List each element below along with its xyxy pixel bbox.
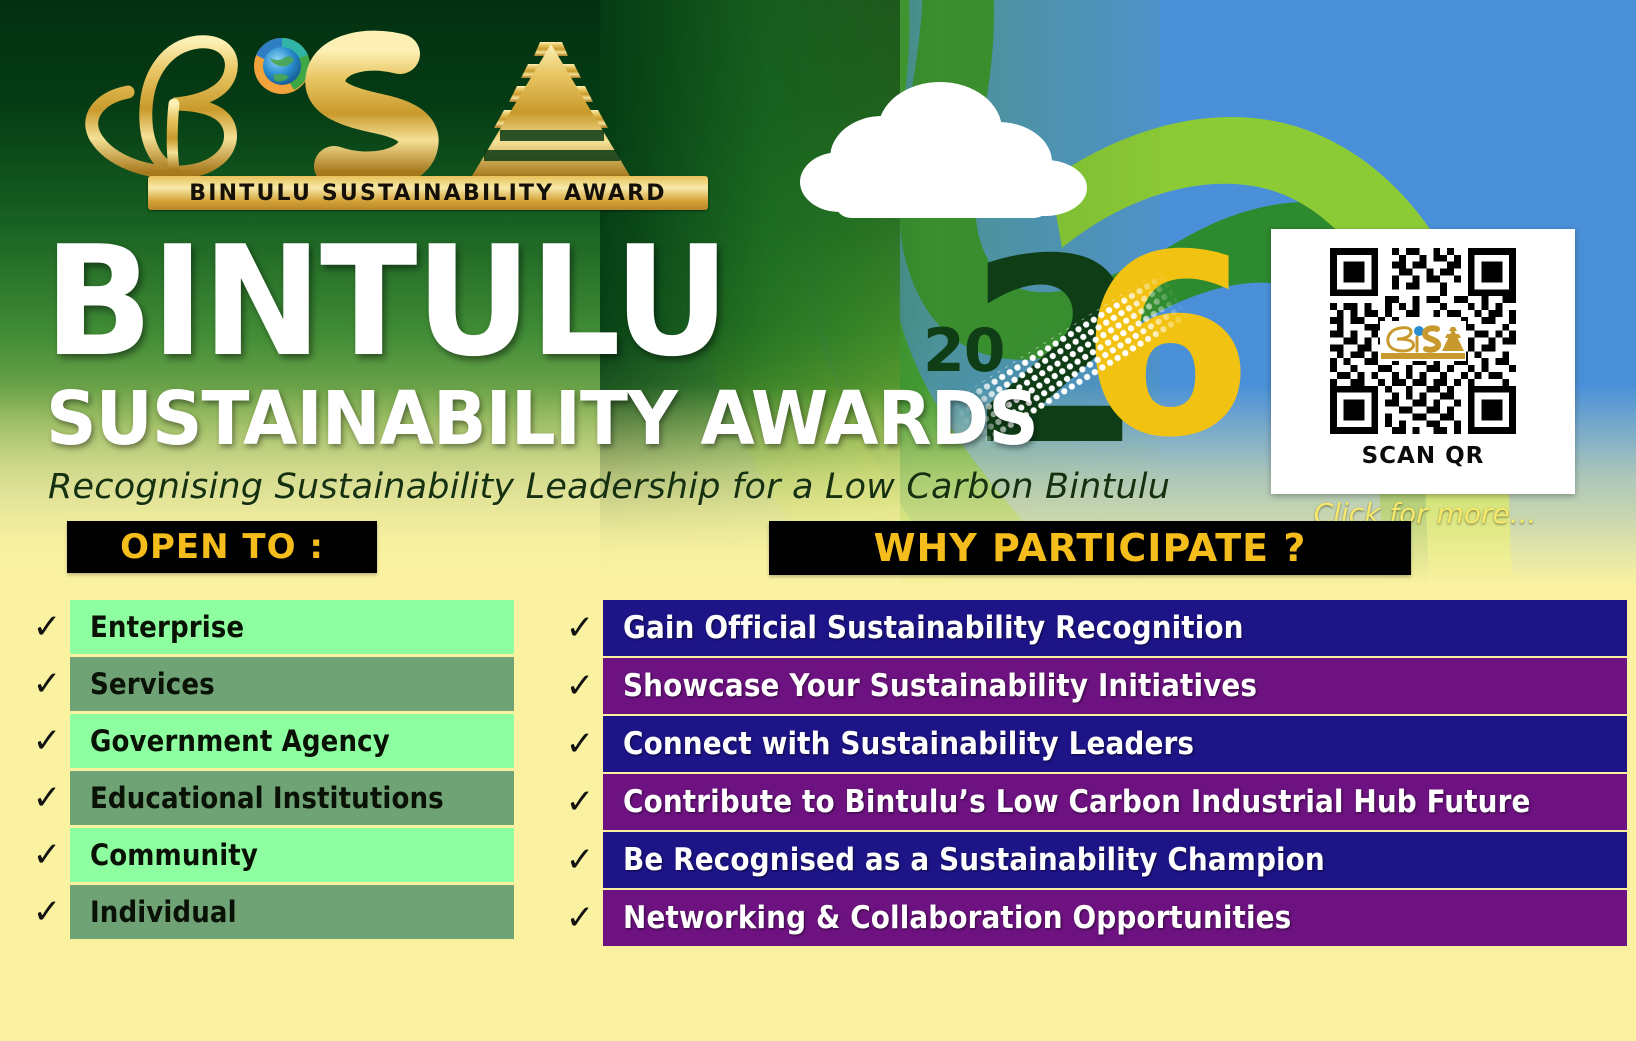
open-to-pill: Government Agency (70, 714, 514, 768)
poster: BINTULU SUSTAINABILITY AWARD 2 6 (0, 0, 1636, 1041)
list-item: ✓ Be Recognised as a Sustainability Cham… (557, 832, 1627, 888)
why-pill: Showcase Your Sustainability Initiatives (603, 658, 1627, 714)
tagline: Recognising Sustainability Leadership fo… (48, 467, 1170, 507)
check-icon: ✓ (557, 716, 603, 772)
list-item: ✓ Educational Institutions (24, 771, 514, 825)
why-label: Gain Official Sustainability Recognition (623, 610, 1244, 646)
why-pill: Be Recognised as a Sustainability Champi… (603, 832, 1627, 888)
why-participate-banner-text: WHY PARTICIPATE ? (874, 526, 1307, 570)
why-participate-banner: WHY PARTICIPATE ? (769, 521, 1411, 575)
check-icon: ✓ (24, 771, 70, 825)
check-icon: ✓ (557, 658, 603, 714)
why-label: Be Recognised as a Sustainability Champi… (623, 842, 1325, 878)
list-item: ✓ Community (24, 828, 514, 882)
open-to-pill: Educational Institutions (70, 771, 514, 825)
open-to-pill: Individual (70, 885, 514, 939)
open-to-label: Community (90, 838, 258, 872)
list-item: ✓ Government Agency (24, 714, 514, 768)
cloud-icon (790, 78, 1120, 218)
check-icon: ✓ (24, 714, 70, 768)
why-label: Contribute to Bintulu’s Low Carbon Indus… (623, 784, 1531, 820)
open-to-pill: Community (70, 828, 514, 882)
qr-center-logo (1380, 321, 1466, 361)
check-icon: ✓ (24, 885, 70, 939)
why-pill: Gain Official Sustainability Recognition (603, 600, 1627, 656)
open-to-banner: OPEN TO : (67, 521, 377, 573)
list-item: ✓ Enterprise (24, 600, 514, 654)
list-item: ✓ Gain Official Sustainability Recogniti… (557, 600, 1627, 656)
why-participate-list: ✓ Gain Official Sustainability Recogniti… (557, 600, 1627, 948)
check-icon: ✓ (24, 828, 70, 882)
bisa-logo: BINTULU SUSTAINABILITY AWARD (70, 18, 690, 218)
why-label: Showcase Your Sustainability Initiatives (623, 668, 1257, 704)
qr-card[interactable]: SCAN QR (1271, 229, 1575, 494)
open-to-label: Enterprise (90, 610, 244, 644)
top-artwork: BINTULU SUSTAINABILITY AWARD 2 6 (0, 0, 1636, 585)
open-to-label: Government Agency (90, 724, 390, 758)
open-to-list: ✓ Enterprise ✓ Services ✓ Government Age… (24, 600, 514, 942)
open-to-label: Individual (90, 895, 237, 929)
open-to-banner-text: OPEN TO : (120, 527, 324, 567)
open-to-label: Educational Institutions (90, 781, 444, 815)
open-to-pill: Services (70, 657, 514, 711)
list-item: ✓ Individual (24, 885, 514, 939)
list-item: ✓ Showcase Your Sustainability Initiativ… (557, 658, 1627, 714)
list-item: ✓ Services (24, 657, 514, 711)
check-icon: ✓ (24, 657, 70, 711)
list-item: ✓ Contribute to Bintulu’s Low Carbon Ind… (557, 774, 1627, 830)
list-item: ✓ Networking & Collaboration Opportuniti… (557, 890, 1627, 946)
page-subtitle: SUSTAINABILITY AWARDS (46, 382, 1038, 456)
check-icon: ✓ (557, 774, 603, 830)
check-icon: ✓ (557, 600, 603, 656)
list-item: ✓ Connect with Sustainability Leaders (557, 716, 1627, 772)
qr-center-bisa-mark (1381, 323, 1465, 359)
why-label: Networking & Collaboration Opportunities (623, 900, 1291, 936)
globe-icon (254, 38, 310, 94)
check-icon: ✓ (557, 832, 603, 888)
why-pill: Connect with Sustainability Leaders (603, 716, 1627, 772)
why-pill: Networking & Collaboration Opportunities (603, 890, 1627, 946)
scan-qr-label: SCAN QR (1362, 443, 1485, 469)
why-pill: Contribute to Bintulu’s Low Carbon Indus… (603, 774, 1627, 830)
open-to-label: Services (90, 667, 215, 701)
qr-code[interactable] (1304, 241, 1542, 441)
check-icon: ✓ (24, 600, 70, 654)
page-title: BINTULU (44, 232, 728, 372)
why-label: Connect with Sustainability Leaders (623, 726, 1194, 762)
logo-strip: BINTULU SUSTAINABILITY AWARD (148, 176, 708, 210)
check-icon: ✓ (557, 890, 603, 946)
logo-strip-text: BINTULU SUSTAINABILITY AWARD (189, 181, 666, 206)
open-to-pill: Enterprise (70, 600, 514, 654)
bottom-section: OPEN TO : WHY PARTICIPATE ? ✓ Enterprise… (0, 585, 1636, 1041)
